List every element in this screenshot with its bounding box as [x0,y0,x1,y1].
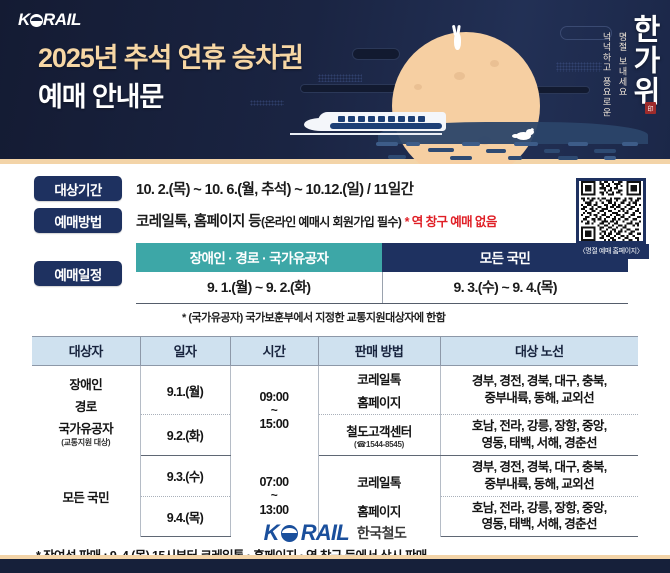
cloud-filled-2 [300,84,408,93]
time-end-1: 13:00 [233,503,316,517]
target-period-value: 10. 2.(목) ~ 10. 6.(월, 추석) ~ 10.12.(일) / … [136,178,413,199]
korail-logo-globe-icon [30,14,43,27]
poster-root: K RAIL 2025년 추석 연휴 승차권 예매 안내문 한가위 명절 보내세… [0,0,670,573]
routes-0-1-line1: 호남, 전라, 강릉, 장항, 중앙, [443,418,637,435]
routes-1-0-line1: 경부, 경전, 경북, 대구, 충북, [443,459,637,476]
badge-target-period: 대상기간 [34,176,122,201]
time-end-0: 15:00 [233,417,316,431]
cell-method-0-1: 철도고객센터 (☎1544-8545) [318,415,440,456]
korail-logo-footer: K RAIL 한국철도 [0,520,670,555]
korail-logo-rail: RAIL [43,10,81,30]
time-tilde-1: ~ [233,489,316,502]
rabbit-standing-icon [452,25,462,51]
info-row-method: 예매방법 코레일톡, 홈페이지 등(온라인 예매시 회원가입 필수) * 역 창… [0,208,670,233]
content-area: 〈명절 예매 홈페이지〉 대상기간 10. 2.(목) ~ 10. 6.(월, … [0,176,670,564]
method-phone-0-1: (☎1544-8545) [321,440,438,449]
dot-texture-1 [318,74,362,82]
page-footer: K RAIL 한국철도 [0,520,670,573]
method-text-1-0: 코레일톡 [321,472,438,491]
calligraphy-sub-right: 명절 보내세요 [615,32,628,118]
th-method: 판매 방법 [318,337,440,366]
time-start-0: 09:00 [233,390,316,404]
calligraphy-main-text: 한가위 [630,14,658,107]
schedule-row: 예매일정 장애인 · 경로 · 국가유공자 모든 국민 9. 1.(월) ~ 9… [0,243,670,304]
footer-logo-globe-icon [281,525,298,542]
th-time: 시간 [230,337,318,366]
qr-code-icon[interactable] [576,178,646,244]
method-middle-0: 홈페이지 [321,392,438,411]
booking-method-main: 코레일톡, 홈페이지 등 [136,214,261,230]
qr-code-block[interactable]: 〈명절 예매 홈페이지〉 [576,178,648,259]
cell-target-priority: 장애인 경로 국가유공자 (교통지원 대상) [32,366,140,456]
time-tilde-0: ~ [233,404,316,417]
booking-method-warning: * 역 창구 예매 없음 [405,215,497,229]
target-line-3: 국가유공자 [34,418,138,437]
method-text-0-0: 코레일톡 [321,369,438,388]
korail-logo-k: K [18,10,30,30]
th-date: 일자 [140,337,230,366]
calligraphy-sub-left: 넉넉하고 풍요로운 [599,32,612,118]
table-row: 모든 국민 9.3.(수) 07:00 ~ 13:00 코레일톡 홈페이지 경부… [32,455,638,496]
booking-method-note: (온라인 예매시 회원가입 필수) [261,215,401,229]
th-routes: 대상 노선 [440,337,638,366]
info-rows: 〈명절 예매 홈페이지〉 대상기간 10. 2.(목) ~ 10. 6.(월, … [0,176,670,233]
cell-date-0-0: 9.1.(월) [140,366,230,415]
table-header-row: 대상자 일자 시간 판매 방법 대상 노선 [32,337,638,366]
cell-time-group-0: 09:00 ~ 15:00 [230,366,318,456]
rabbit-jumping-icon [512,128,534,142]
routes-0-0-line2: 중부내륙, 동해, 교외선 [443,390,637,407]
table-row: 장애인 경로 국가유공자 (교통지원 대상) 9.1.(월) 09:00 ~ 1… [32,366,638,415]
schedule-table: 장애인 · 경로 · 국가유공자 모든 국민 9. 1.(월) ~ 9. 2.(… [136,243,628,304]
seal-stamp-icon: 印 [645,102,656,114]
time-start-1: 07:00 [233,475,316,489]
footer-logo-rail: RAIL [301,520,349,546]
routes-1-1-line1: 호남, 전라, 강릉, 장항, 중앙, [443,500,637,517]
routes-0-0-line1: 경부, 경전, 경북, 대구, 충북, [443,373,637,390]
cloud-filled-1 [352,48,400,60]
hangawi-calligraphy: 한가위 명절 보내세요 넉넉하고 풍요로운 印 [578,14,658,148]
target-sub-note: (교통지원 대상) [34,437,138,448]
schedule-value-priority: 9. 1.(월) ~ 9. 2.(화) [136,272,383,303]
cell-date-0-1: 9.2.(화) [140,415,230,456]
target-line-2: 경로 [34,396,138,415]
badge-booking-method: 예매방법 [34,208,122,233]
page-title: 2025년 추석 연휴 승차권 예매 안내문 [38,42,303,115]
schedule-header-row: 장애인 · 경로 · 국가유공자 모든 국민 [136,243,628,272]
schedule-footnote: * (국가유공자) 국가보훈부에서 지정한 교통지원대상자에 한함 [182,309,670,325]
footer-logo-k: K [264,520,279,546]
ktx-train-illustration [290,108,455,134]
footer-navy-band [0,559,670,573]
title-line-2: 예매 안내문 [38,80,303,115]
schedule-header-priority: 장애인 · 경로 · 국가유공자 [136,243,382,272]
hero-banner: K RAIL 2025년 추석 연휴 승차권 예매 안내문 한가위 명절 보내세… [0,0,670,164]
qr-caption: 〈명절 예매 홈페이지〉 [573,244,649,259]
schedule-value-general: 9. 3.(수) ~ 9. 4.(목) [383,272,629,303]
cell-routes-0-0: 경부, 경전, 경북, 대구, 충북, 중부내륙, 동해, 교외선 [440,366,638,415]
cell-method-0-0: 코레일톡 홈페이지 [318,366,440,415]
schedule-value-row: 9. 1.(월) ~ 9. 2.(화) 9. 3.(수) ~ 9. 4.(목) [136,272,628,304]
cell-routes-1-0: 경부, 경전, 경북, 대구, 충북, 중부내륙, 동해, 교외선 [440,455,638,496]
badge-booking-schedule: 예매일정 [34,261,122,286]
method-text-1-1: 홈페이지 [321,501,438,520]
booking-details-table: 대상자 일자 시간 판매 방법 대상 노선 장애인 경로 국가유공자 (교통지원… [32,336,638,537]
th-target: 대상자 [32,337,140,366]
method-text-0-1: 철도고객센터 [321,421,438,440]
routes-0-1-line2: 영동, 태백, 서해, 경춘선 [443,435,637,452]
target-general-label: 모든 국민 [34,487,138,506]
cell-date-1-0: 9.3.(수) [140,455,230,496]
korail-logo-banner: K RAIL [18,10,81,30]
cell-routes-0-1: 호남, 전라, 강릉, 장항, 중앙, 영동, 태백, 서해, 경춘선 [440,415,638,456]
info-row-period: 대상기간 10. 2.(목) ~ 10. 6.(월, 추석) ~ 10.12.(… [0,176,670,201]
footer-korean-name: 한국철도 [357,523,407,543]
booking-method-value: 코레일톡, 홈페이지 등(온라인 예매시 회원가입 필수) * 역 창구 예매 … [136,210,497,231]
title-line-1: 2025년 추석 연휴 승차권 [38,42,303,76]
target-line-1: 장애인 [34,374,138,393]
routes-1-0-line2: 중부내륙, 동해, 교외선 [443,476,637,493]
